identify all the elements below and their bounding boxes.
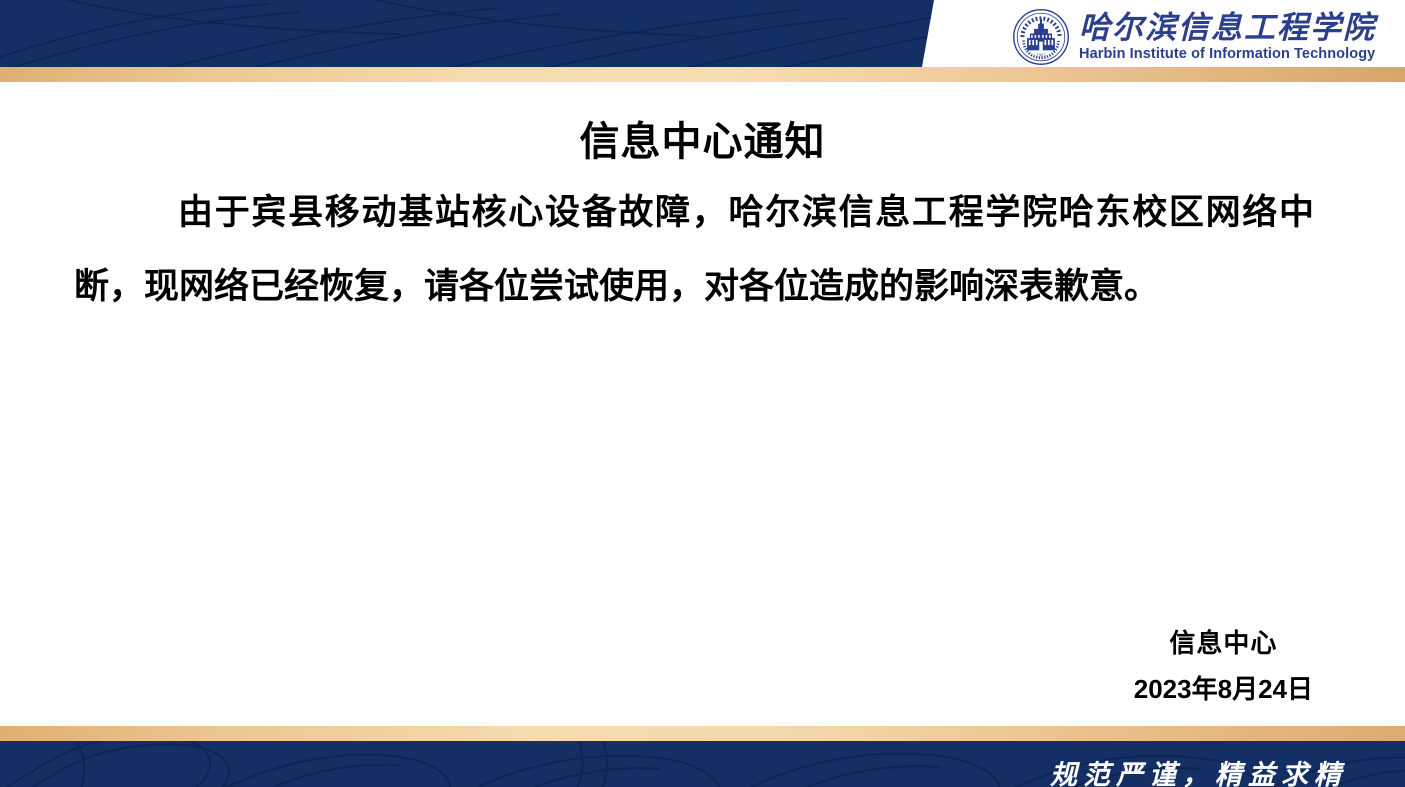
institution-name-en: Harbin Institute of Information Technolo… xyxy=(1079,47,1376,62)
page-title: 信息中心通知 xyxy=(0,109,1405,167)
header-navy-panel xyxy=(0,0,960,67)
slide-canvas: 1993 哈尔滨信息工程学院 Harbin Institute of Infor… xyxy=(0,0,1405,787)
university-logo: 1993 哈尔滨信息工程学院 Harbin Institute of Infor… xyxy=(1012,6,1400,68)
signature-block: 信息中心 2023年8月24日 xyxy=(1134,620,1313,712)
institution-name-cn: 哈尔滨信息工程学院 xyxy=(1079,12,1376,43)
document-content: 信息中心通知 由于宾县移动基站核心设备故障，哈尔滨信息工程学院哈东校区网络中断，… xyxy=(0,82,1405,722)
header-topographic-pattern-icon xyxy=(0,0,960,67)
footer-gold-rule xyxy=(0,726,1405,741)
svg-text:1993: 1993 xyxy=(1036,54,1046,59)
notice-body-text: 由于宾县移动基站核心设备故障，哈尔滨信息工程学院哈东校区网络中断，现网络已经恢复… xyxy=(74,176,1314,324)
signature-date: 2023年8月24日 xyxy=(1134,666,1313,712)
header-gold-rule xyxy=(0,67,1405,82)
footer-motto: 规范严谨，精益求精 xyxy=(1050,753,1347,787)
notice-paragraph: 由于宾县移动基站核心设备故障，哈尔滨信息工程学院哈东校区网络中断，现网络已经恢复… xyxy=(74,176,1314,324)
logo-text-block: 哈尔滨信息工程学院 Harbin Institute of Informatio… xyxy=(1079,12,1376,62)
university-seal-icon: 1993 xyxy=(1012,8,1070,66)
signature-organization: 信息中心 xyxy=(1134,620,1313,666)
footer-band: 规范严谨，精益求精 xyxy=(0,726,1405,787)
